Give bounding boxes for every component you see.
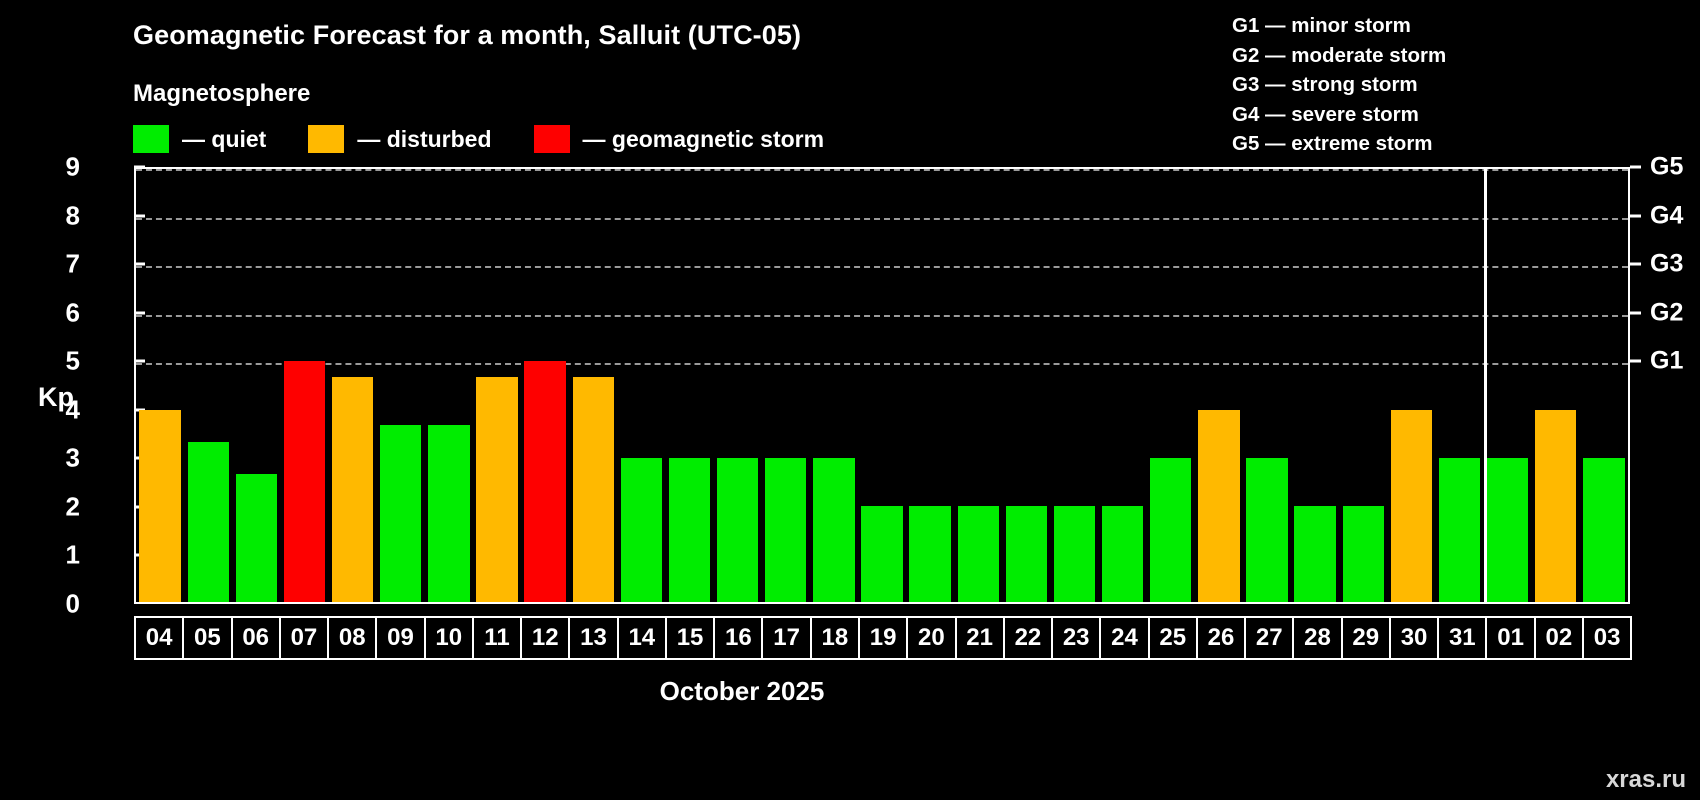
x-label-12[interactable]: 12 <box>520 616 570 660</box>
x-label-16[interactable]: 16 <box>713 616 763 660</box>
y-tick-label-7: 7 <box>40 249 80 280</box>
bar-cell-05[interactable] <box>184 169 232 602</box>
x-axis-title: October 2025 <box>0 676 1700 707</box>
x-axis-day-labels: 0405060708091011121314151617181920212223… <box>134 616 1630 660</box>
chart-subtitle: Magnetosphere <box>133 80 310 108</box>
bar-cell-08[interactable] <box>329 169 377 602</box>
bar-cell-28[interactable] <box>1291 169 1339 602</box>
bar-cell-31[interactable] <box>1435 169 1483 602</box>
x-label-13[interactable]: 13 <box>568 616 618 660</box>
bar-13-disturbed[interactable] <box>573 377 614 602</box>
x-label-22[interactable]: 22 <box>1003 616 1053 660</box>
g-tick-mark-G4 <box>1630 214 1641 217</box>
bar-12-storm[interactable] <box>524 361 565 602</box>
bar-cell-12[interactable] <box>521 169 569 602</box>
y-tick-label-8: 8 <box>40 200 80 231</box>
bar-16-quiet[interactable] <box>717 458 758 602</box>
bar-24-quiet[interactable] <box>1102 506 1143 602</box>
bar-06-quiet[interactable] <box>236 474 277 602</box>
g-tick-label-G2: G2 <box>1650 298 1683 327</box>
g-tick-mark-G2 <box>1630 311 1641 314</box>
legend-swatch-quiet <box>133 125 169 153</box>
y-tick-label-9: 9 <box>40 152 80 183</box>
bar-17-quiet[interactable] <box>765 458 806 602</box>
storm-scale-line-3: G3 — strong storm <box>1232 70 1446 100</box>
bar-cell-19[interactable] <box>858 169 906 602</box>
x-label-26[interactable]: 26 <box>1196 616 1246 660</box>
bar-20-quiet[interactable] <box>909 506 950 602</box>
x-label-01[interactable]: 01 <box>1485 616 1535 660</box>
legend-item-quiet: — quiet <box>133 125 308 153</box>
storm-scale-line-1: G1 — minor storm <box>1232 11 1446 41</box>
y-tick-label-6: 6 <box>40 297 80 328</box>
bar-cell-01[interactable] <box>1484 169 1532 602</box>
x-label-31[interactable]: 31 <box>1437 616 1487 660</box>
bar-cell-23[interactable] <box>1050 169 1098 602</box>
bar-11-disturbed[interactable] <box>476 377 517 602</box>
color-legend: — quiet— disturbed— geomagnetic storm <box>133 125 866 153</box>
x-label-08[interactable]: 08 <box>327 616 377 660</box>
x-label-04[interactable]: 04 <box>134 616 184 660</box>
chart-plot-area <box>134 167 1630 604</box>
legend-item-disturbed: — disturbed <box>308 125 533 153</box>
bar-26-disturbed[interactable] <box>1198 410 1239 602</box>
x-label-07[interactable]: 07 <box>279 616 329 660</box>
bar-07-storm[interactable] <box>284 361 325 602</box>
bar-cell-17[interactable] <box>762 169 810 602</box>
y-tick-label-4: 4 <box>40 394 80 425</box>
g-tick-label-G3: G3 <box>1650 250 1683 279</box>
bar-cell-30[interactable] <box>1387 169 1435 602</box>
storm-scale-legend: G1 — minor stormG2 — moderate stormG3 — … <box>1232 11 1446 159</box>
bar-cell-06[interactable] <box>232 169 280 602</box>
storm-scale-line-4: G4 — severe storm <box>1232 100 1446 130</box>
bar-cell-18[interactable] <box>810 169 858 602</box>
x-label-09[interactable]: 09 <box>375 616 425 660</box>
bar-03-quiet[interactable] <box>1583 458 1624 602</box>
bar-cell-25[interactable] <box>1147 169 1195 602</box>
bar-cell-16[interactable] <box>714 169 762 602</box>
storm-scale-line-2: G2 — moderate storm <box>1232 41 1446 71</box>
bar-cell-13[interactable] <box>569 169 617 602</box>
x-label-02[interactable]: 02 <box>1534 616 1584 660</box>
x-label-30[interactable]: 30 <box>1389 616 1439 660</box>
bar-cell-02[interactable] <box>1532 169 1580 602</box>
x-label-14[interactable]: 14 <box>617 616 667 660</box>
bar-cell-24[interactable] <box>1099 169 1147 602</box>
bar-29-quiet[interactable] <box>1343 506 1384 602</box>
g-tick-mark-G5 <box>1630 166 1641 169</box>
bar-cell-20[interactable] <box>906 169 954 602</box>
bar-cell-11[interactable] <box>473 169 521 602</box>
bar-27-quiet[interactable] <box>1246 458 1287 602</box>
y-tick-label-2: 2 <box>40 491 80 522</box>
x-label-23[interactable]: 23 <box>1051 616 1101 660</box>
y-tick-label-1: 1 <box>40 540 80 571</box>
legend-swatch-disturbed <box>308 125 344 153</box>
x-label-24[interactable]: 24 <box>1099 616 1149 660</box>
bar-cell-04[interactable] <box>136 169 184 602</box>
month-separator-line <box>1484 169 1487 602</box>
y-tick-label-5: 5 <box>40 346 80 377</box>
x-label-06[interactable]: 06 <box>231 616 281 660</box>
g-tick-mark-G3 <box>1630 263 1641 266</box>
bar-30-disturbed[interactable] <box>1391 410 1432 602</box>
y-tick-label-0: 0 <box>40 589 80 620</box>
bar-cell-21[interactable] <box>954 169 1002 602</box>
legend-item-storm: — geomagnetic storm <box>534 125 867 153</box>
x-label-17[interactable]: 17 <box>761 616 811 660</box>
x-label-28[interactable]: 28 <box>1292 616 1342 660</box>
x-label-29[interactable]: 29 <box>1341 616 1391 660</box>
bar-21-quiet[interactable] <box>958 506 999 602</box>
bar-cell-14[interactable] <box>617 169 665 602</box>
watermark: xras.ru <box>1606 766 1686 794</box>
x-label-19[interactable]: 19 <box>858 616 908 660</box>
x-label-20[interactable]: 20 <box>906 616 956 660</box>
bar-series <box>136 169 1628 602</box>
bar-08-disturbed[interactable] <box>332 377 373 602</box>
bar-02-disturbed[interactable] <box>1535 410 1576 602</box>
bar-14-quiet[interactable] <box>621 458 662 602</box>
legend-label-quiet: — quiet <box>182 126 266 153</box>
g-tick-label-G4: G4 <box>1650 201 1683 230</box>
bar-31-quiet[interactable] <box>1439 458 1480 602</box>
bar-cell-26[interactable] <box>1195 169 1243 602</box>
bar-cell-27[interactable] <box>1243 169 1291 602</box>
bar-04-disturbed[interactable] <box>139 410 180 602</box>
bar-15-quiet[interactable] <box>669 458 710 602</box>
bar-cell-29[interactable] <box>1339 169 1387 602</box>
x-label-21[interactable]: 21 <box>955 616 1005 660</box>
x-label-10[interactable]: 10 <box>424 616 474 660</box>
legend-label-storm: — geomagnetic storm <box>583 126 825 153</box>
bar-10-quiet[interactable] <box>428 425 469 602</box>
x-label-25[interactable]: 25 <box>1148 616 1198 660</box>
bar-cell-07[interactable] <box>280 169 328 602</box>
bar-cell-03[interactable] <box>1580 169 1628 602</box>
x-label-18[interactable]: 18 <box>810 616 860 660</box>
bar-23-quiet[interactable] <box>1054 506 1095 602</box>
g-tick-label-G1: G1 <box>1650 347 1683 376</box>
bar-cell-09[interactable] <box>377 169 425 602</box>
y-tick-label-3: 3 <box>40 443 80 474</box>
x-label-11[interactable]: 11 <box>472 616 522 660</box>
x-label-27[interactable]: 27 <box>1244 616 1294 660</box>
storm-scale-line-5: G5 — extreme storm <box>1232 129 1446 159</box>
g-tick-mark-G1 <box>1630 360 1641 363</box>
bar-22-quiet[interactable] <box>1006 506 1047 602</box>
bar-09-quiet[interactable] <box>380 425 421 602</box>
bar-25-quiet[interactable] <box>1150 458 1191 602</box>
legend-swatch-storm <box>534 125 570 153</box>
bar-cell-10[interactable] <box>425 169 473 602</box>
bar-cell-15[interactable] <box>665 169 713 602</box>
bar-18-quiet[interactable] <box>813 458 854 602</box>
g-tick-label-G5: G5 <box>1650 153 1683 182</box>
bar-28-quiet[interactable] <box>1294 506 1335 602</box>
bar-05-quiet[interactable] <box>188 442 229 602</box>
legend-label-disturbed: — disturbed <box>357 126 491 153</box>
bar-cell-22[interactable] <box>1002 169 1050 602</box>
page-title: Geomagnetic Forecast for a month, Sallui… <box>133 20 801 51</box>
x-label-05[interactable]: 05 <box>182 616 232 660</box>
bar-19-quiet[interactable] <box>861 506 902 602</box>
x-label-15[interactable]: 15 <box>665 616 715 660</box>
bar-01-quiet[interactable] <box>1487 458 1528 602</box>
x-label-03[interactable]: 03 <box>1582 616 1632 660</box>
